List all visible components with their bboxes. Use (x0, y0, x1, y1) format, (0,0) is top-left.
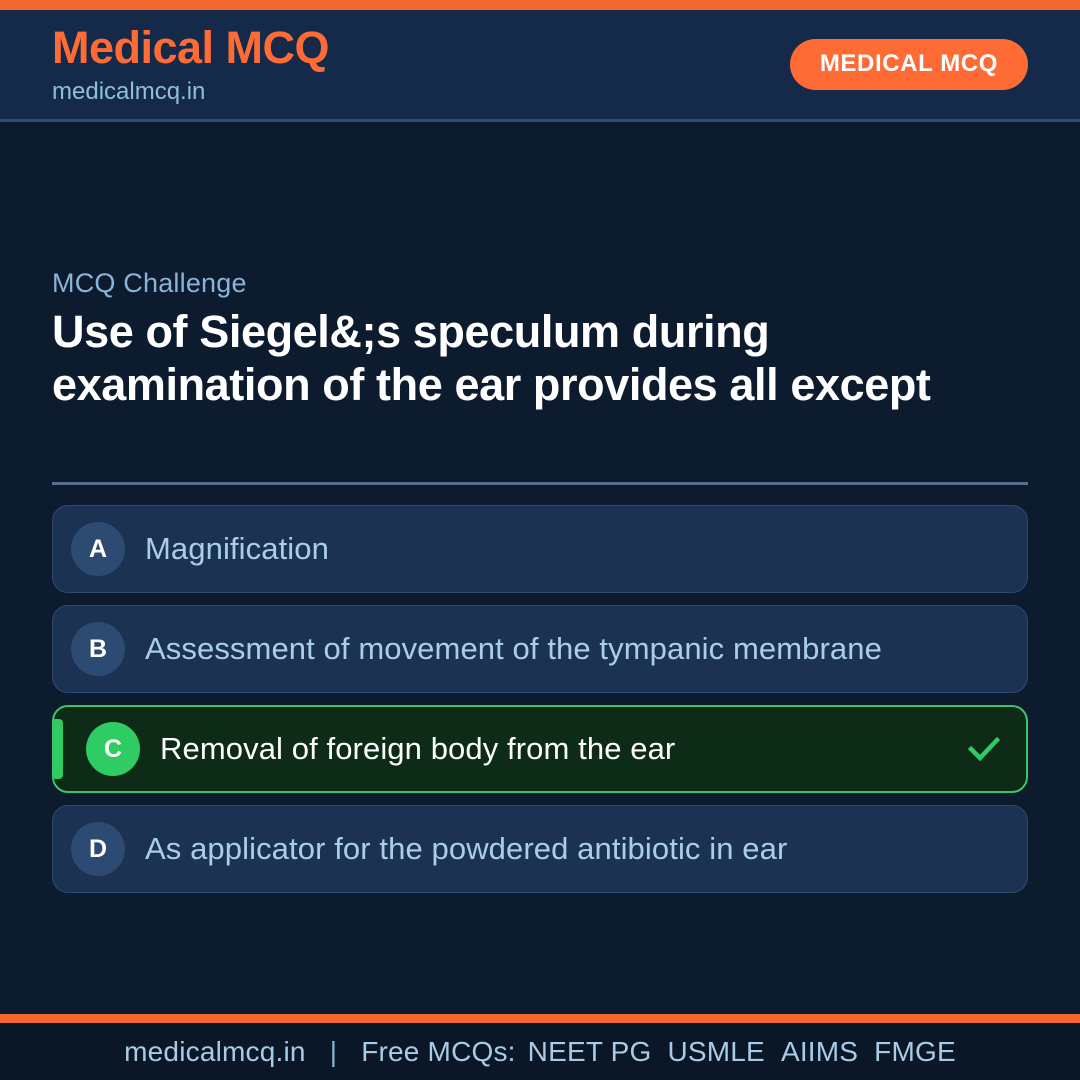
brand-title: Medical MCQ (52, 25, 329, 71)
brand-block: Medical MCQ medicalmcq.in (52, 25, 329, 104)
brand-subtitle: medicalmcq.in (52, 80, 329, 104)
top-accent-bar (0, 0, 1080, 10)
option-text-b: Assessment of movement of the tympanic m… (145, 632, 1007, 667)
kicker-label: MCQ Challenge (52, 270, 247, 297)
footer-exam-aiims: AIIMS (781, 1036, 858, 1068)
footer-exam-fmge: FMGE (874, 1036, 956, 1068)
option-row-c[interactable]: C Removal of foreign body from the ear (52, 705, 1028, 793)
option-row-b[interactable]: B Assessment of movement of the tympanic… (52, 605, 1028, 693)
footer-accent-bar (0, 1014, 1080, 1023)
footer-separator: | (330, 1036, 337, 1068)
mcq-card: Medical MCQ medicalmcq.in MEDICAL MCQ MC… (0, 0, 1080, 1080)
footer-exam-neetpg: NEET PG (528, 1036, 652, 1068)
correct-accent-bar (54, 719, 63, 779)
option-letter-a: A (71, 522, 125, 576)
option-row-d[interactable]: D As applicator for the powdered antibio… (52, 805, 1028, 893)
question-text: Use of Siegel&;s speculum during examina… (52, 305, 1028, 411)
option-text-a: Magnification (145, 532, 1007, 567)
option-letter-d: D (71, 822, 125, 876)
option-row-a[interactable]: A Magnification (52, 505, 1028, 593)
footer-free-label: Free MCQs: (361, 1036, 515, 1068)
option-letter-c: C (86, 722, 140, 776)
options-list: A Magnification B Assessment of movement… (52, 505, 1028, 893)
footer-site-label: medicalmcq.in (124, 1036, 306, 1068)
header-badge: MEDICAL MCQ (790, 39, 1028, 90)
option-text-c: Removal of foreign body from the ear (160, 732, 954, 767)
main-content: MCQ Challenge Use of Siegel&;s speculum … (0, 122, 1080, 1014)
option-letter-b: B (71, 622, 125, 676)
footer-exam-usmle: USMLE (667, 1036, 764, 1068)
header-bar: Medical MCQ medicalmcq.in MEDICAL MCQ (0, 10, 1080, 122)
question-divider (52, 482, 1028, 485)
option-text-d: As applicator for the powdered antibioti… (145, 832, 1007, 867)
footer-content: medicalmcq.in | Free MCQs: NEET PG USMLE… (124, 1036, 956, 1068)
check-icon (962, 727, 1006, 771)
footer-bar: medicalmcq.in | Free MCQs: NEET PG USMLE… (0, 1023, 1080, 1080)
